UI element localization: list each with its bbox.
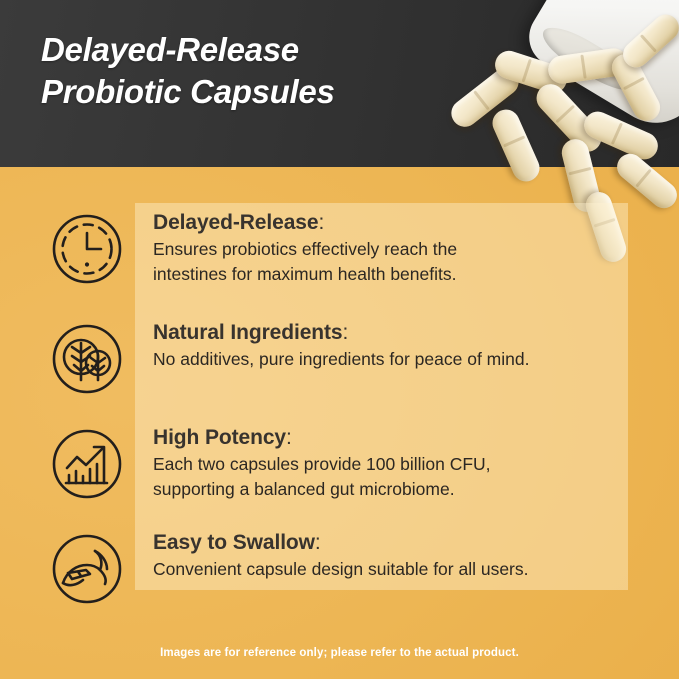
feature-title-colon: :	[318, 211, 324, 234]
feature-description: Each two capsules provide 100 billion CF…	[153, 452, 645, 502]
product-infographic: Delayed-Release Probiotic Capsules	[0, 0, 679, 679]
feature-title: Natural Ingredients:	[153, 319, 645, 346]
feature-title-text: High Potency	[153, 426, 286, 449]
feature-text: Natural Ingredients: No additives, pure …	[153, 319, 645, 372]
feature-title-text: Natural Ingredients	[153, 321, 342, 344]
feature-description: No additives, pure ingredients for peace…	[153, 347, 645, 372]
feature-text: Easy to Swallow: Convenient capsule desi…	[153, 529, 645, 582]
feature-title-text: Delayed-Release	[153, 211, 318, 234]
growth-chart-icon	[45, 422, 129, 506]
feature-title-colon: :	[315, 531, 321, 554]
hand-capsule-icon	[45, 527, 129, 611]
feature-title: Easy to Swallow:	[153, 529, 645, 556]
feature-title-colon: :	[342, 321, 348, 344]
feature-description: Ensures probiotics effectively reach the…	[153, 237, 645, 287]
feature-title-colon: :	[286, 426, 292, 449]
feature-list: Delayed-Release: Ensures probiotics effe…	[0, 0, 679, 679]
feature-title: Delayed-Release:	[153, 209, 645, 236]
tree-icon	[45, 317, 129, 401]
disclaimer-text: Images are for reference only; please re…	[0, 647, 679, 659]
feature-text: Delayed-Release: Ensures probiotics effe…	[153, 209, 645, 287]
clock-icon	[45, 207, 129, 291]
feature-description: Convenient capsule design suitable for a…	[153, 557, 645, 582]
feature-title-text: Easy to Swallow	[153, 531, 315, 554]
feature-title: High Potency:	[153, 424, 645, 451]
feature-text: High Potency: Each two capsules provide …	[153, 424, 645, 502]
